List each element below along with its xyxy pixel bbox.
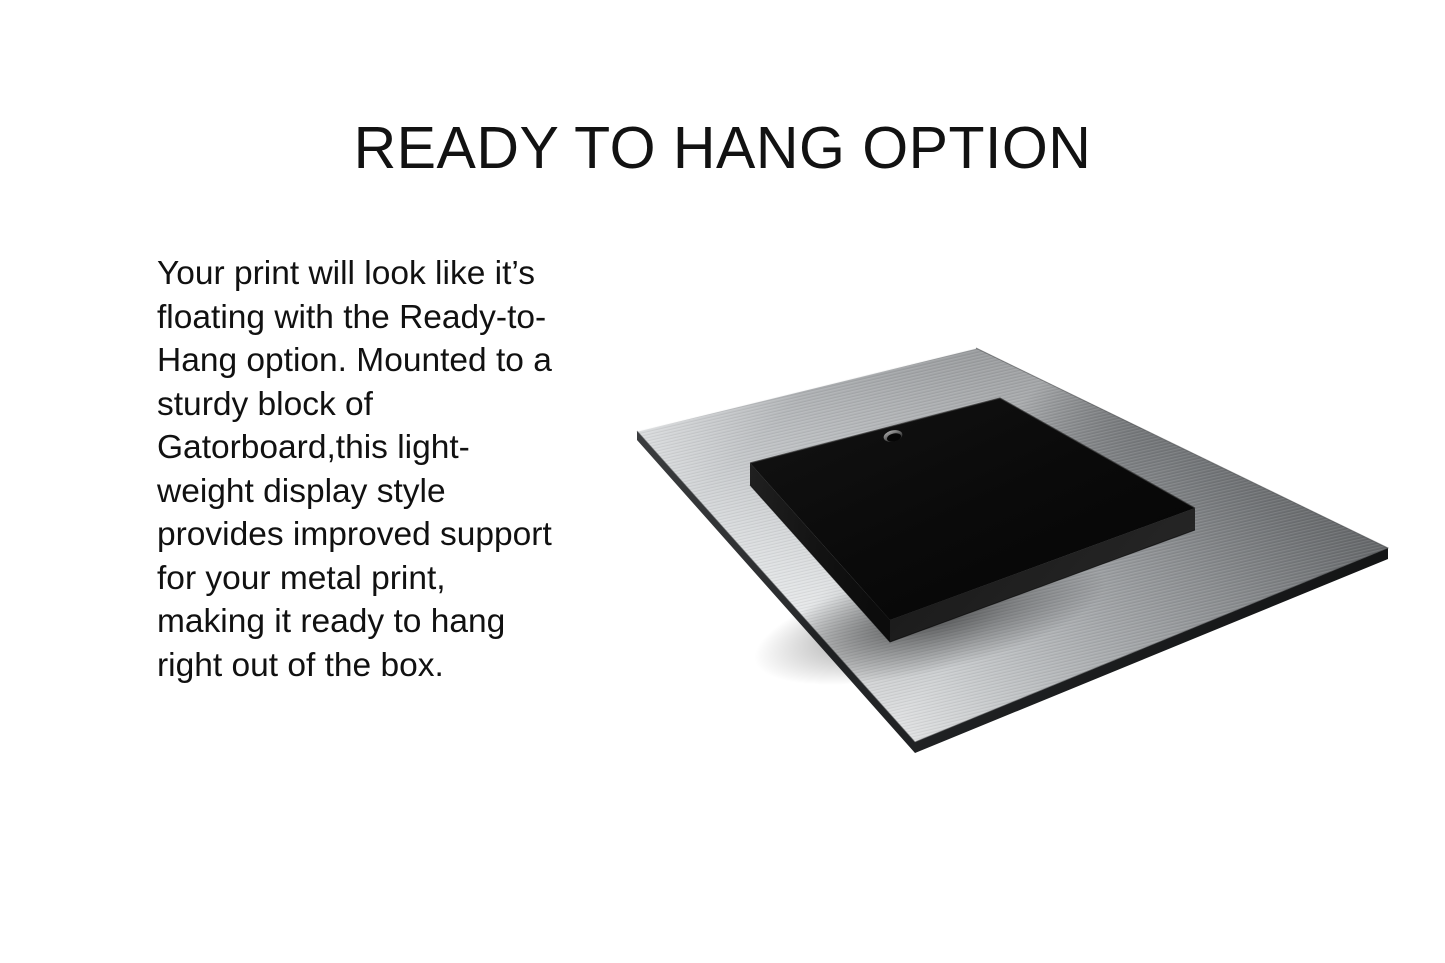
- product-illustration-svg: [600, 320, 1420, 780]
- page-title: READY TO HANG OPTION: [0, 118, 1445, 180]
- description-paragraph: Your print will look like it’s floating …: [157, 252, 561, 687]
- product-illustration: [600, 320, 1420, 780]
- slide-canvas: READY TO HANG OPTION Your print will loo…: [0, 0, 1445, 963]
